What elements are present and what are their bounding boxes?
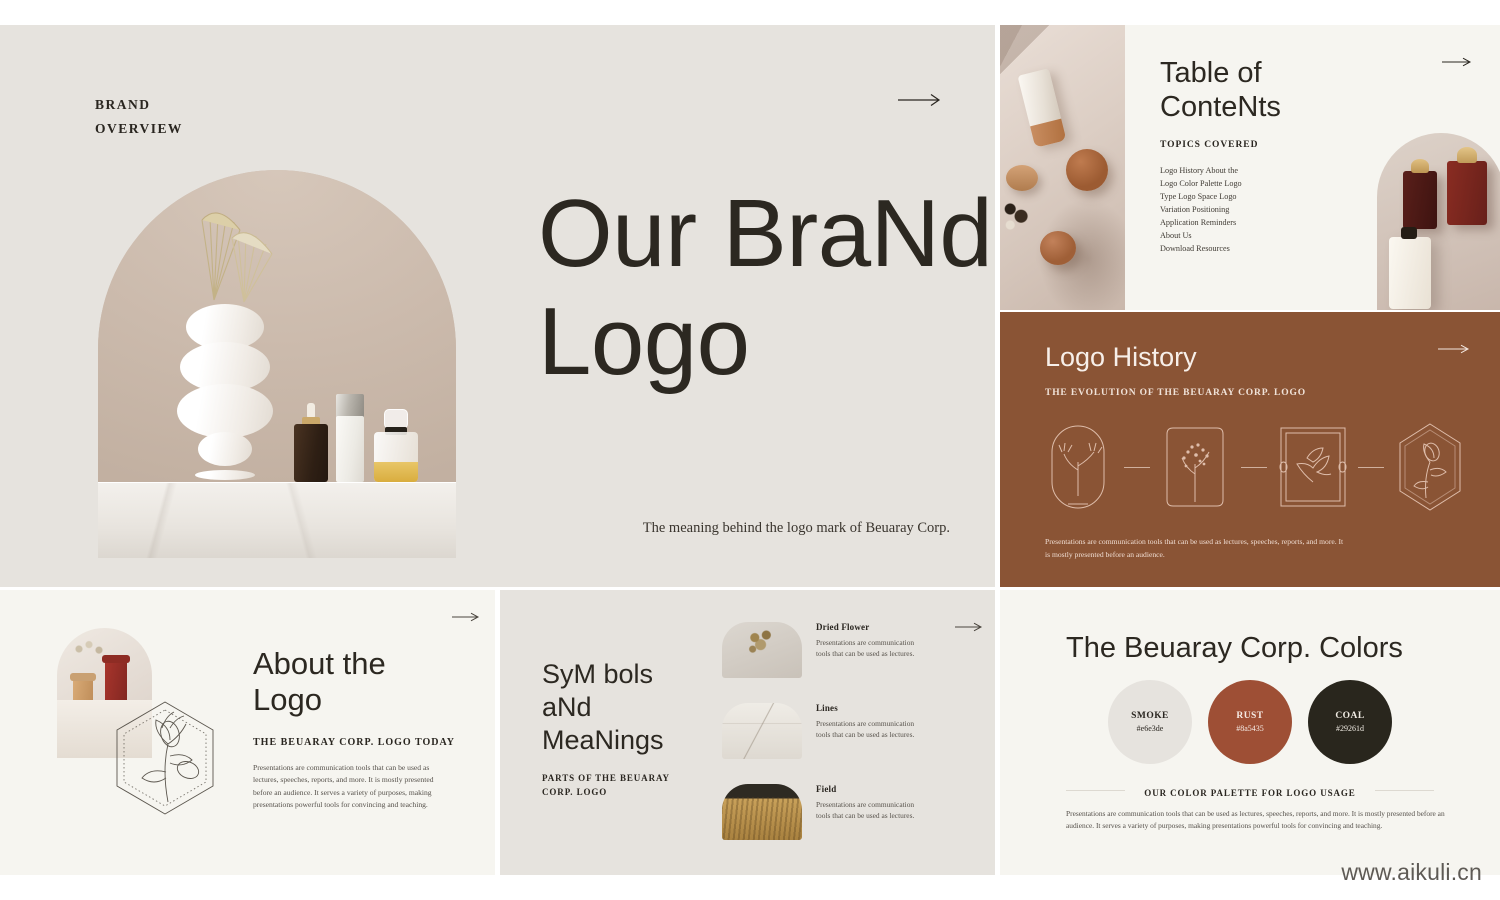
lines-photo [722,703,802,759]
toc-list: Logo History About the Logo Color Palett… [1160,165,1380,256]
toc-title-line1: Table of [1160,57,1262,89]
page-title: Our BraNd Logo [538,180,992,395]
hero-title-line2: Logo [538,288,750,395]
slide-brand-colors[interactable]: The Beuaray Corp. Colors SMOKE #e6e3de R… [1000,590,1500,875]
perfume-bottle-cream [1389,237,1431,309]
swatch-hex: #29261d [1336,724,1364,733]
list-item[interactable]: Download Resources [1160,243,1380,256]
about-title-line1: About the [253,646,386,681]
symbol-description: Presentations are communication tools th… [816,637,921,660]
list-item[interactable]: Application Reminders [1160,217,1380,230]
arrow-right-icon[interactable] [898,93,942,107]
slide-brand-overview[interactable]: BRAND OVERVIEW [0,25,995,587]
slide-about-the-logo[interactable]: About the Logo THE BEUARAY CORP. LOGO TO… [0,590,495,875]
logo-evolution-row [1038,417,1470,517]
about-title-line2: Logo [253,682,322,717]
slide-symbols-and-meanings[interactable]: SyM bols aNd MeaNings PARTS OF THE BEUAR… [500,590,995,875]
perfume-bottle-dark [1403,171,1437,229]
page-title: SyM bols aNd MeaNings [542,658,752,757]
symbol-name: Field [816,784,921,794]
toc-eyebrow: TOPICS COVERED [1160,140,1258,150]
cosmetics-flatlay-photo [1000,25,1125,310]
dried-palm-leaves [152,170,302,310]
page-title: About the Logo [253,646,386,719]
compact-lid-bottom [1040,231,1076,265]
perfume-bottle-red [1447,161,1487,225]
connector-dash [1124,467,1150,468]
brand-label-line1: BRAND [95,93,183,117]
list-item[interactable]: Lines Presentations are communication to… [722,703,972,759]
hero-caption: The meaning behind the logo mark of Beua… [640,517,950,539]
page-title: The Beuaray Corp. Colors [1066,632,1403,665]
ceramic-vase [176,302,274,482]
list-item[interactable]: Field Presentations are communication to… [722,784,972,840]
list-item[interactable]: Dried Flower Presentations are communica… [722,622,972,678]
brand-overview-label: BRAND OVERVIEW [95,93,183,140]
logo-mark-oval-icon [1038,418,1118,516]
perfume-bottles-photo [1377,133,1500,310]
page-title: Logo History [1045,342,1197,373]
swatch-name: SMOKE [1131,711,1169,721]
perfume-bottle [374,410,418,482]
swatch-hex: #8a5435 [1236,724,1264,733]
serum-bottle [294,406,328,482]
compact-lid-small [1006,165,1038,191]
swatch-hex: #e6e3de [1137,724,1164,733]
color-swatch-coal[interactable]: COAL #29261d [1308,680,1392,764]
colors-eyebrow: OUR COLOR PALETTE FOR LOGO USAGE [1125,788,1375,798]
brand-label-line2: OVERVIEW [95,117,183,141]
symbol-description: Presentations are communication tools th… [816,799,921,822]
list-item[interactable]: Logo History About the [1160,165,1380,178]
symbols-title-line2: aNd [542,692,592,722]
symbol-name: Dried Flower [816,622,921,632]
symbols-title-line3: MeaNings [542,725,664,755]
slide-logo-history[interactable]: Logo History THE EVOLUTION OF THE BEUARA… [1000,312,1500,587]
arrow-right-icon[interactable] [1438,344,1470,354]
dried-flower-accent [1000,197,1034,237]
color-swatch-rust[interactable]: RUST #8a5435 [1208,680,1292,764]
connector-dash [1241,467,1267,468]
compact-lid-large [1066,149,1108,191]
colors-description: Presentations are communication tools th… [1066,808,1454,832]
slide-deck-preview: BRAND OVERVIEW [0,0,1500,900]
swatch-name: RUST [1236,711,1263,721]
toc-title-line2: ConteNts [1160,91,1281,123]
dried-flower-photo [722,622,802,678]
marble-counter [98,482,456,558]
symbols-eyebrow-line2: CORP. LOGO [542,786,722,800]
color-swatch-smoke[interactable]: SMOKE #e6e3de [1108,680,1192,764]
logo-mark-notched-square-icon [1155,418,1235,516]
hero-product-photo [98,170,456,558]
color-swatch-row: SMOKE #e6e3de RUST #8a5435 COAL #29261d [1100,680,1400,764]
hero-title-line1: Our BraNd [538,180,992,287]
history-description: Presentations are communication tools th… [1045,536,1345,561]
symbols-title-line1: SyM bols [542,659,653,689]
symbols-eyebrow-line1: PARTS OF THE BEUARAY [542,772,722,786]
hexagon-botanical-logo-icon [110,698,220,818]
page-title: Table of ConteNts [1160,57,1390,124]
arrow-right-icon[interactable] [1442,57,1472,67]
logo-mark-double-square-icon [1273,418,1353,516]
list-item[interactable]: Logo Color Palette Logo [1160,178,1380,191]
list-item[interactable]: About Us [1160,230,1380,243]
field-photo [722,784,802,840]
swatch-name: COAL [1335,711,1364,721]
watermark: www.aikuli.cn [1341,859,1482,886]
tall-spray-bottle [336,390,364,482]
symbols-eyebrow: PARTS OF THE BEUARAY CORP. LOGO [542,772,722,799]
symbol-description: Presentations are communication tools th… [816,718,921,741]
symbols-list: Dried Flower Presentations are communica… [722,622,972,865]
history-eyebrow: THE EVOLUTION OF THE BEUARAY CORP. LOGO [1045,388,1306,398]
list-item[interactable]: Type Logo Space Logo [1160,191,1380,204]
about-description: Presentations are communication tools th… [253,762,449,811]
connector-dash [1358,467,1384,468]
slide-table-of-contents[interactable]: Table of ConteNts TOPICS COVERED Logo Hi… [1000,25,1500,310]
logo-mark-hexagon-icon [1390,418,1470,516]
symbol-name: Lines [816,703,921,713]
list-item[interactable]: Variation Positioning [1160,204,1380,217]
arrow-right-icon[interactable] [452,612,480,622]
about-eyebrow: THE BEUARAY CORP. LOGO TODAY [253,737,455,748]
toc-content-panel: Table of ConteNts TOPICS COVERED Logo Hi… [1125,25,1500,310]
